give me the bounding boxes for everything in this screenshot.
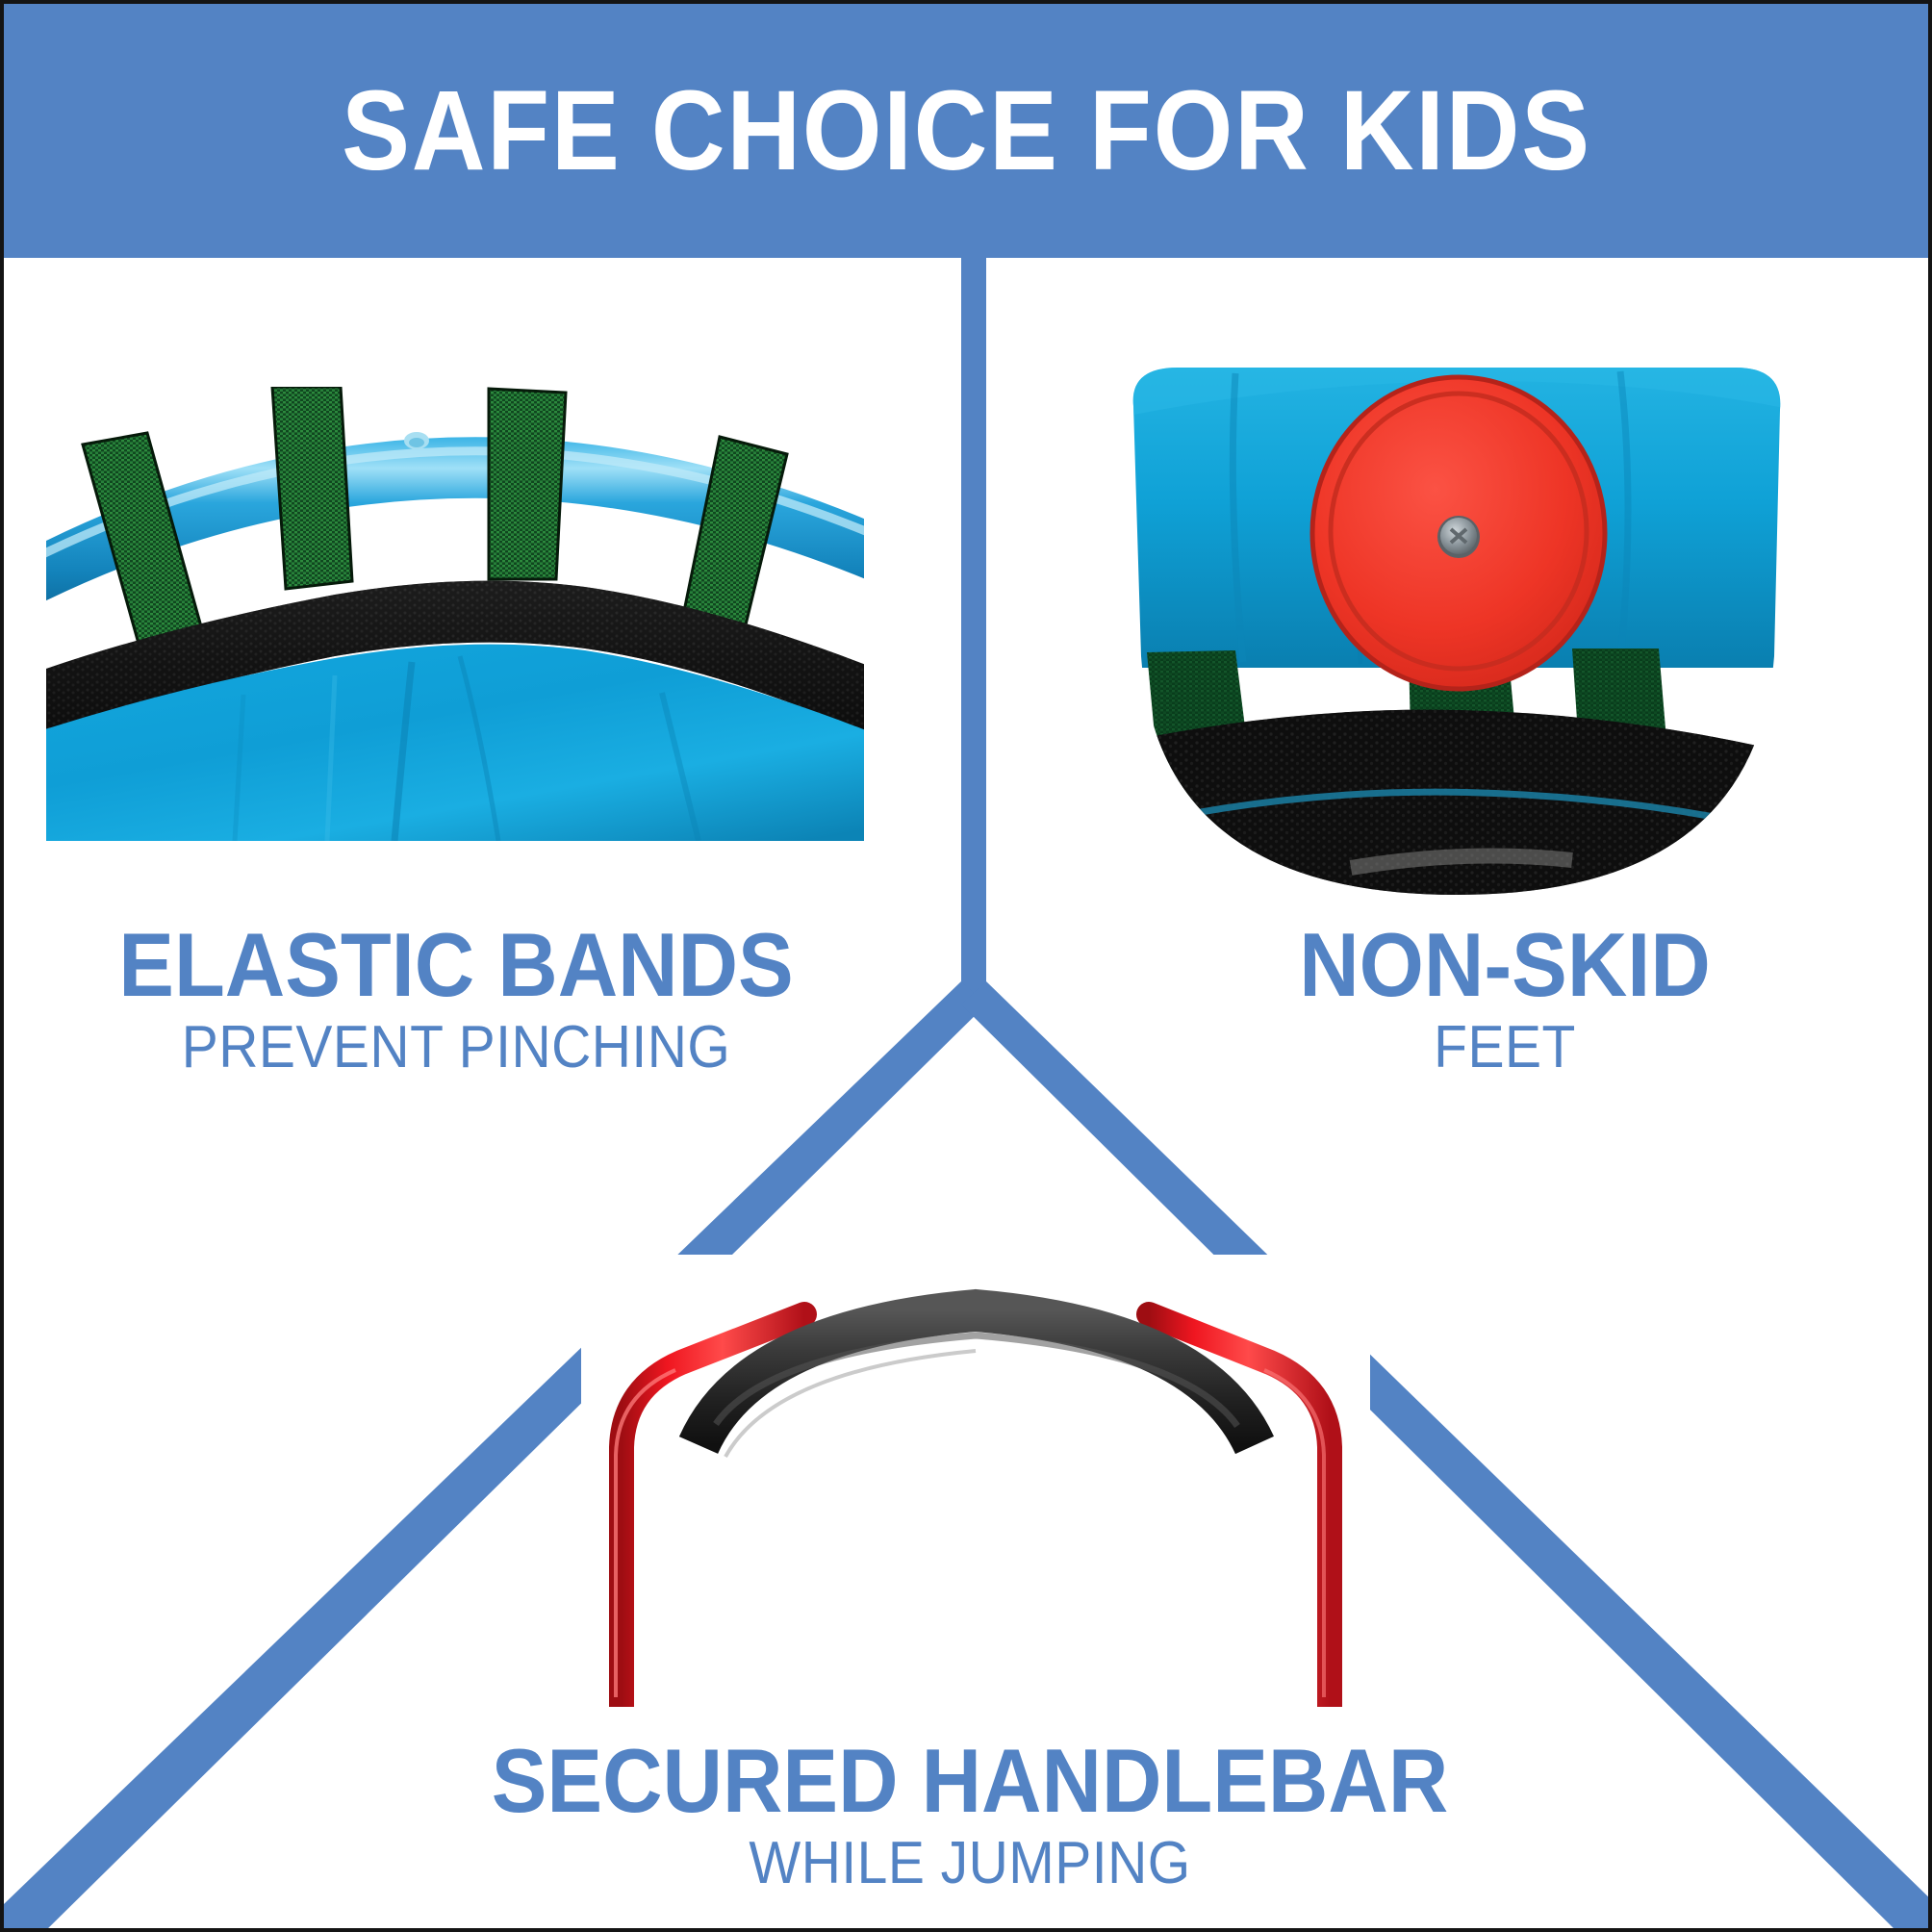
header-banner: SAFE CHOICE FOR KIDS [4, 4, 1928, 258]
caption-secured-handlebar: SECURED HANDLEBAR WHILE JUMPING [296, 1736, 1643, 1901]
caption-title: ELASTIC BANDS [58, 920, 854, 1010]
caption-title: SECURED HANDLEBAR [350, 1736, 1589, 1826]
poster-root: SAFE CHOICE FOR KIDS [0, 0, 1932, 1932]
caption-elastic-bands: ELASTIC BANDS PREVENT PINCHING [23, 920, 889, 1085]
caption-subtitle: WHILE JUMPING [350, 1826, 1589, 1901]
elastic-bands-photo [46, 387, 864, 841]
caption-non-skid-feet: NON-SKID FEET [1072, 920, 1932, 1085]
caption-subtitle: FEET [1106, 1010, 1903, 1085]
caption-title: NON-SKID [1106, 920, 1903, 1010]
handlebar-photo [581, 1255, 1370, 1707]
caption-subtitle: PREVENT PINCHING [58, 1010, 854, 1085]
non-skid-foot-photo [1120, 368, 1793, 895]
page-title: SAFE CHOICE FOR KIDS [342, 74, 1591, 188]
divider-vertical [961, 258, 986, 999]
